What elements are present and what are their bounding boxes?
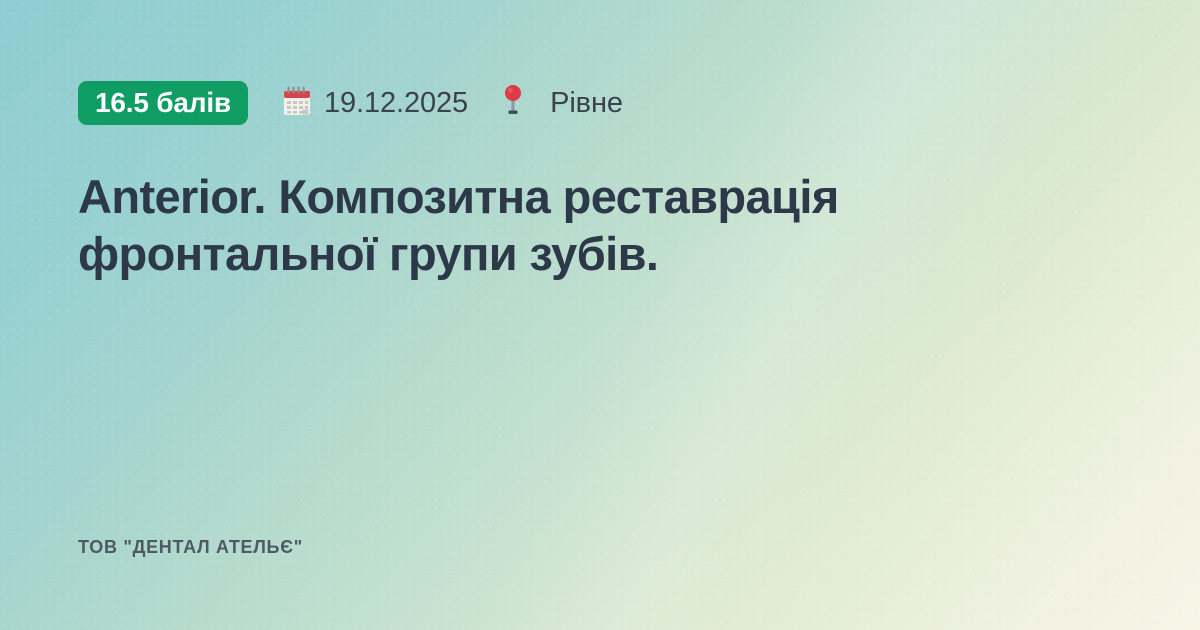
card-content: 16.5 балів (0, 0, 1200, 630)
organization-name: ТОВ "ДЕНТАЛ АТЕЛЬЄ" (78, 537, 1122, 558)
meta-row: 16.5 балів (78, 80, 1122, 126)
layout-spacer (78, 314, 1122, 537)
date-text: 19.12.2025 (324, 89, 468, 118)
date-meta-item: 19.12.2025 (282, 85, 468, 121)
calendar-icon (282, 85, 312, 121)
location-text: Рівне (550, 89, 623, 118)
score-badge: 16.5 балів (78, 81, 248, 125)
page-title: Anterior. Композитна реставрація фронтал… (78, 168, 1068, 283)
map-pin-icon (502, 84, 538, 122)
location-meta-item: Рівне (502, 84, 623, 122)
event-card: 16.5 балів (0, 0, 1200, 630)
